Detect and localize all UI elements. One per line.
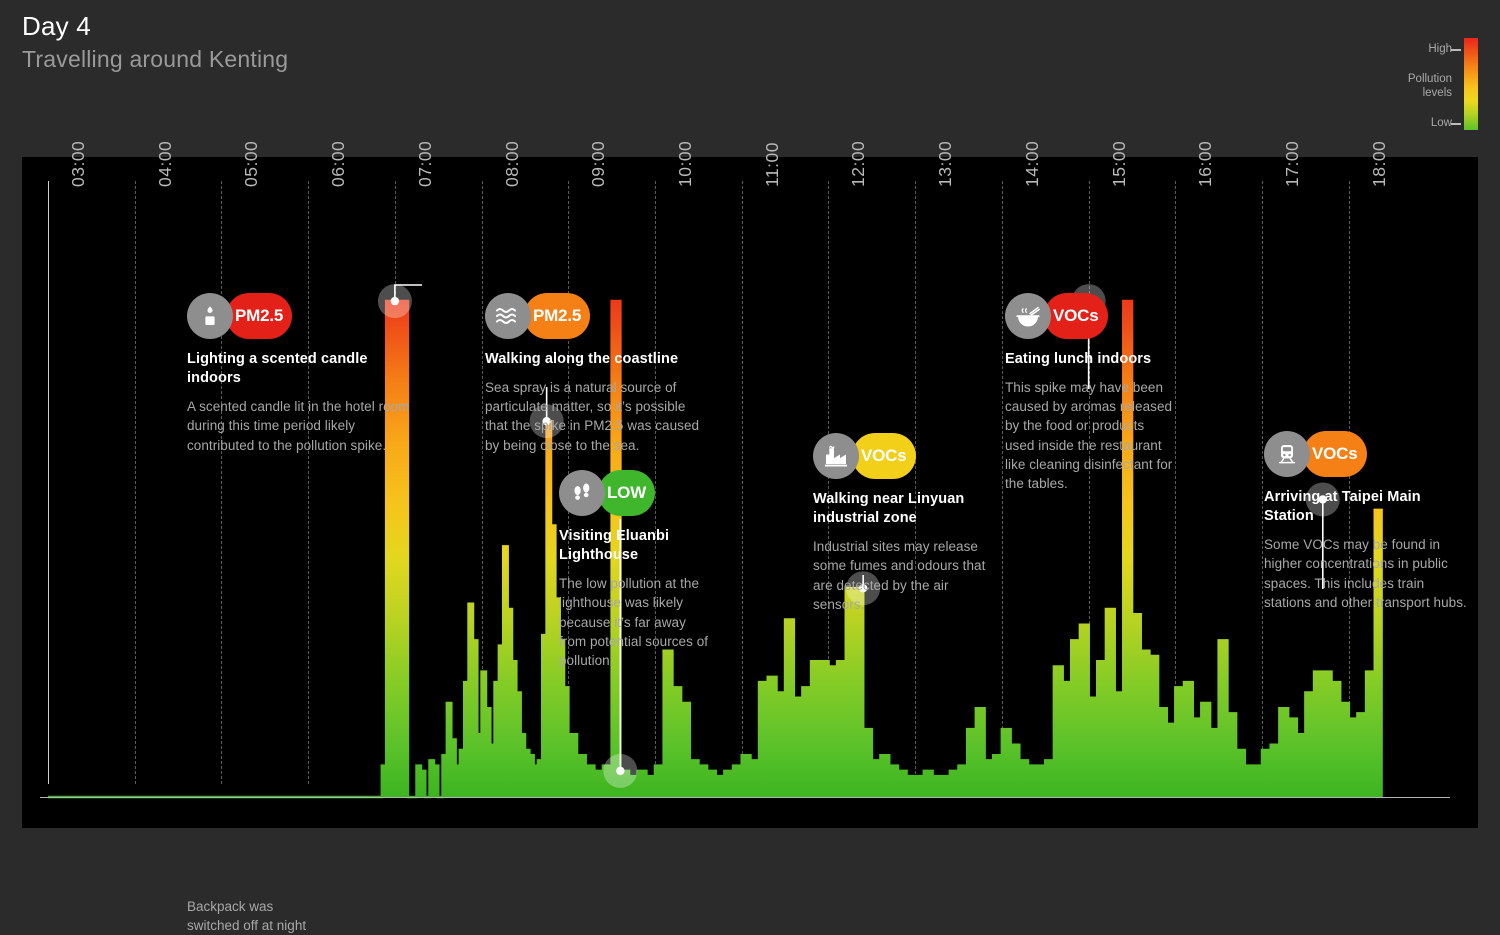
badge-pm25: PM2.5 bbox=[226, 293, 292, 339]
annotation-icons: PM2.5 bbox=[485, 293, 700, 339]
legend-mid-line2: levels bbox=[1423, 87, 1452, 99]
legend-label-high: High bbox=[1428, 42, 1452, 56]
annotation-title: Eating lunch indoors bbox=[1005, 350, 1173, 369]
annotation-lunch[interactable]: VOCs Eating lunch indoors This spike may… bbox=[1005, 293, 1173, 493]
annotation-icons: VOCs bbox=[1005, 293, 1173, 339]
note-line1: Backpack was bbox=[187, 899, 273, 914]
pollution-legend: High Pollution levels Low bbox=[1370, 38, 1478, 138]
train-icon bbox=[1264, 431, 1310, 477]
annotation-body: Sea spray is a natural source of particu… bbox=[485, 378, 700, 455]
annotation-icons: PM2.5 bbox=[187, 293, 422, 339]
annotation-title: Visiting Eluanbi Lighthouse bbox=[559, 527, 709, 565]
annotation-body: Some VOCs may be found in higher concent… bbox=[1264, 535, 1469, 612]
badge-pm25: PM2.5 bbox=[524, 293, 590, 339]
noodle-bowl-icon bbox=[1005, 293, 1051, 339]
pollution-area-chart bbox=[22, 157, 1478, 828]
backpack-off-note: Backpack was switched off at night bbox=[187, 897, 306, 935]
annotation-title: Walking near Linyuan industrial zone bbox=[813, 490, 1003, 528]
badge-vocs: VOCs bbox=[1044, 293, 1108, 339]
factory-icon bbox=[813, 433, 859, 479]
annotation-title: Lighting a scented candle indoors bbox=[187, 350, 422, 388]
annotation-icons: VOCs bbox=[813, 433, 1003, 479]
legend-label-pollution-levels: Pollution levels bbox=[1408, 72, 1452, 101]
footprints-icon bbox=[559, 470, 605, 516]
legend-tick-high bbox=[1451, 49, 1461, 51]
page-header: Day 4 Travelling around Kenting bbox=[22, 10, 288, 74]
annotation-station[interactable]: VOCs Arriving at Taipei Main Station Som… bbox=[1264, 431, 1469, 612]
annotation-title: Walking along the coastline bbox=[485, 350, 700, 369]
note-line2: switched off at night bbox=[187, 918, 306, 933]
chart-panel: 03:0004:0005:0006:0007:0008:0009:0010:00… bbox=[22, 157, 1478, 828]
chart-baseline-axis bbox=[40, 797, 1450, 798]
legend-tick-low bbox=[1451, 123, 1461, 125]
annotation-coastline[interactable]: PM2.5 Walking along the coastline Sea sp… bbox=[485, 293, 700, 455]
legend-mid-line1: Pollution bbox=[1408, 73, 1452, 85]
candle-icon bbox=[187, 293, 233, 339]
chart-plot-area: 03:0004:0005:0006:0007:0008:0009:0010:00… bbox=[22, 157, 1478, 828]
waves-icon bbox=[485, 293, 531, 339]
annotation-title: Arriving at Taipei Main Station bbox=[1264, 488, 1469, 526]
annotation-body: This spike may have been caused by aroma… bbox=[1005, 378, 1173, 493]
annotation-body: The low pollution at the lighthouse was … bbox=[559, 574, 709, 670]
annotation-lighthouse[interactable]: LOW Visiting Eluanbi Lighthouse The low … bbox=[559, 470, 709, 670]
badge-low: LOW bbox=[598, 470, 655, 516]
annotation-body: A scented candle lit in the hotel room d… bbox=[187, 397, 422, 454]
annotation-icons: LOW bbox=[559, 470, 709, 516]
annotation-icons: VOCs bbox=[1264, 431, 1469, 477]
badge-vocs: VOCs bbox=[852, 433, 916, 479]
annotation-candle[interactable]: PM2.5 Lighting a scented candle indoors … bbox=[187, 293, 422, 455]
page-subtitle: Travelling around Kenting bbox=[22, 45, 288, 75]
page-title: Day 4 bbox=[22, 10, 288, 43]
annotation-body: Industrial sites may release some fumes … bbox=[813, 537, 1003, 614]
legend-gradient-bar bbox=[1464, 38, 1478, 130]
annotation-linyuan[interactable]: VOCs Walking near Linyuan industrial zon… bbox=[813, 433, 1003, 614]
badge-vocs: VOCs bbox=[1303, 431, 1367, 477]
legend-label-low: Low bbox=[1431, 116, 1452, 130]
